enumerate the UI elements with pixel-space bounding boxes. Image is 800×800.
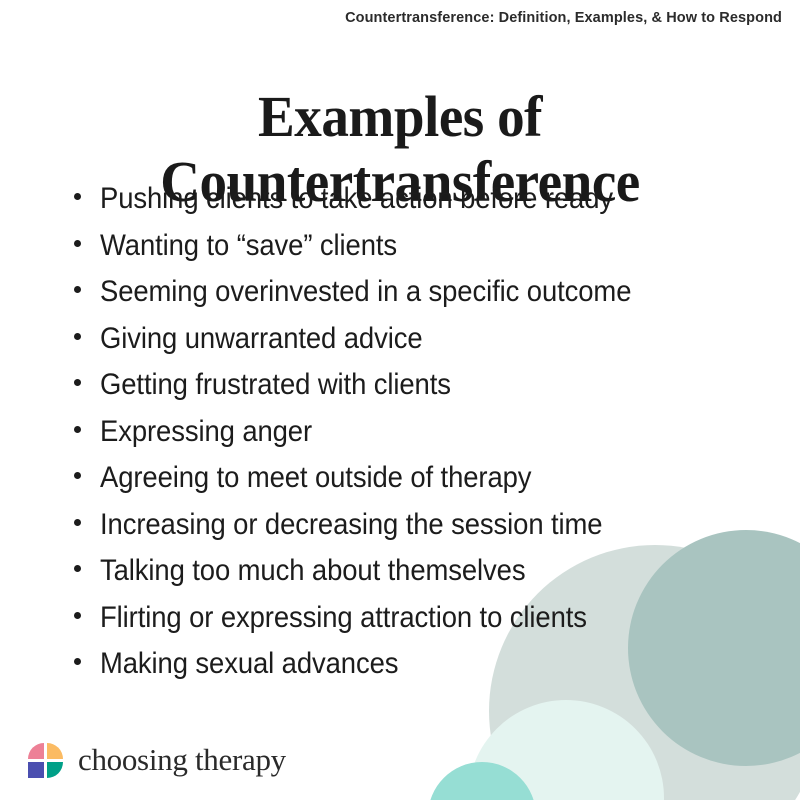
bullet-dot-icon (74, 472, 81, 479)
bullet-dot-icon (74, 565, 81, 572)
slide-canvas: Countertransference: Definition, Example… (0, 0, 800, 800)
list-item: Expressing anger (74, 415, 774, 462)
list-item: Pushing clients to take action before re… (74, 182, 774, 229)
list-item-label: Wanting to “save” clients (100, 229, 397, 263)
list-item-label: Talking too much about themselves (100, 554, 525, 588)
list-item: Giving unwarranted advice (74, 322, 774, 369)
brand-wordmark: choosing therapy (78, 742, 286, 778)
list-item-label: Giving unwarranted advice (100, 322, 423, 356)
list-item: Agreeing to meet outside of therapy (74, 461, 774, 508)
list-item-label: Agreeing to meet outside of therapy (100, 461, 531, 495)
bullet-dot-icon (74, 333, 81, 340)
list-item-label: Flirting or expressing attraction to cli… (100, 601, 587, 635)
logo-quadrant-bottom-right-icon (47, 762, 63, 778)
list-item-label: Pushing clients to take action before re… (100, 182, 613, 216)
bullet-dot-icon (74, 612, 81, 619)
list-item-label: Seeming overinvested in a specific outco… (100, 275, 631, 309)
list-item: Making sexual advances (74, 647, 774, 694)
list-item-label: Getting frustrated with clients (100, 368, 451, 402)
logo-quadrant-top-right-icon (47, 743, 63, 759)
bullet-dot-icon (74, 519, 81, 526)
decorative-circle-bright-teal (428, 762, 536, 800)
bullet-dot-icon (74, 658, 81, 665)
page-title-line-1: Examples of (20, 85, 780, 150)
bullet-dot-icon (74, 426, 81, 433)
decorative-circle-pale-mint (468, 700, 664, 800)
list-item: Getting frustrated with clients (74, 368, 774, 415)
list-item: Talking too much about themselves (74, 554, 774, 601)
list-item-label: Expressing anger (100, 415, 312, 449)
list-item: Wanting to “save” clients (74, 229, 774, 276)
list-item: Seeming overinvested in a specific outco… (74, 275, 774, 322)
brand-lockup: choosing therapy (28, 742, 286, 778)
breadcrumb: Countertransference: Definition, Example… (345, 10, 782, 26)
bullet-dot-icon (74, 286, 81, 293)
bullet-dot-icon (74, 240, 81, 247)
bullet-dot-icon (74, 193, 81, 200)
examples-list: Pushing clients to take action before re… (74, 182, 774, 694)
list-item: Flirting or expressing attraction to cli… (74, 601, 774, 648)
list-item-label: Making sexual advances (100, 647, 398, 681)
logo-quadrant-top-left-icon (28, 743, 44, 759)
logo-quadrant-bottom-left-icon (28, 762, 44, 778)
choosing-therapy-logo-icon (28, 743, 63, 778)
list-item: Increasing or decreasing the session tim… (74, 508, 774, 555)
list-item-label: Increasing or decreasing the session tim… (100, 508, 602, 542)
bullet-dot-icon (74, 379, 81, 386)
